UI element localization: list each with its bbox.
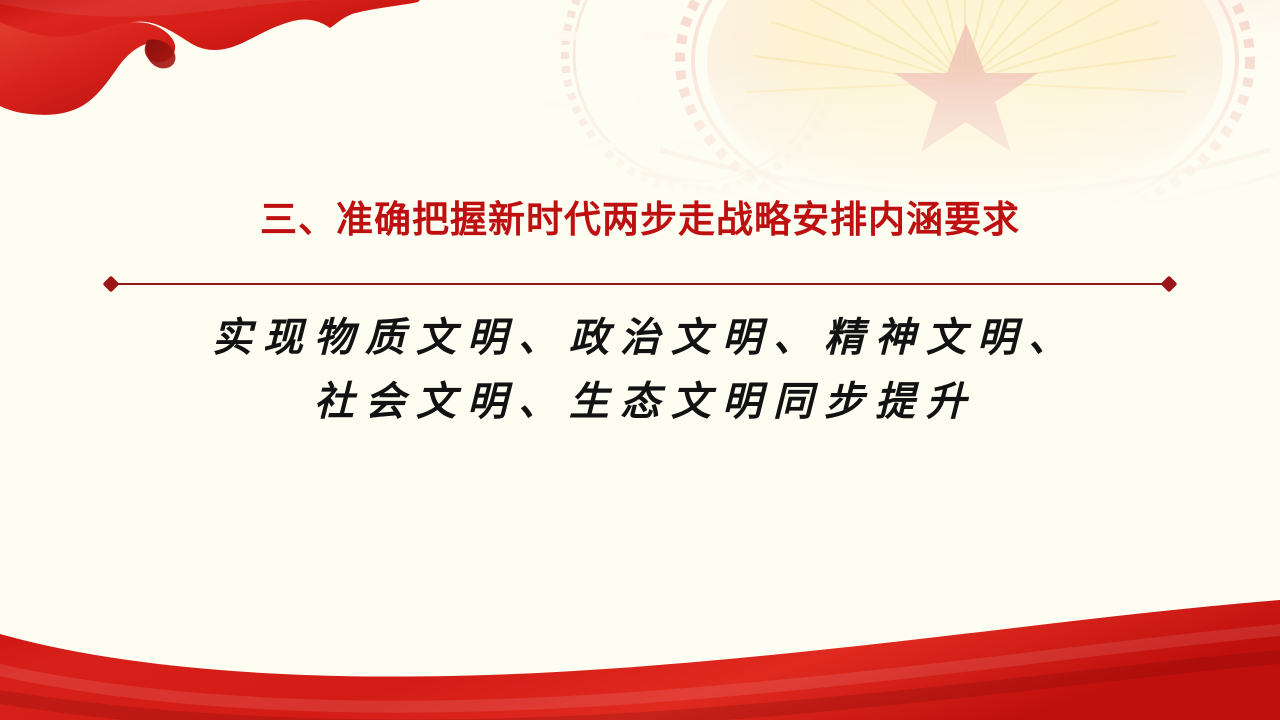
heading-divider	[105, 276, 1175, 292]
body-line-1: 实现物质文明、政治文明、精神文明、	[0, 306, 1280, 370]
divider-right-diamond-icon	[1161, 276, 1178, 293]
slide-heading: 三、准确把握新时代两步走战略安排内涵要求	[0, 198, 1280, 242]
slide-content: 三、准确把握新时代两步走战略安排内涵要求 实现物质文明、政治文明、精神文明、 社…	[0, 0, 1280, 720]
body-line-2: 社会文明、生态文明同步提升	[0, 370, 1280, 434]
slide-body-text: 实现物质文明、政治文明、精神文明、 社会文明、生态文明同步提升	[0, 306, 1280, 434]
presentation-slide: 三、准确把握新时代两步走战略安排内涵要求 实现物质文明、政治文明、精神文明、 社…	[0, 0, 1280, 720]
divider-line	[115, 283, 1165, 285]
